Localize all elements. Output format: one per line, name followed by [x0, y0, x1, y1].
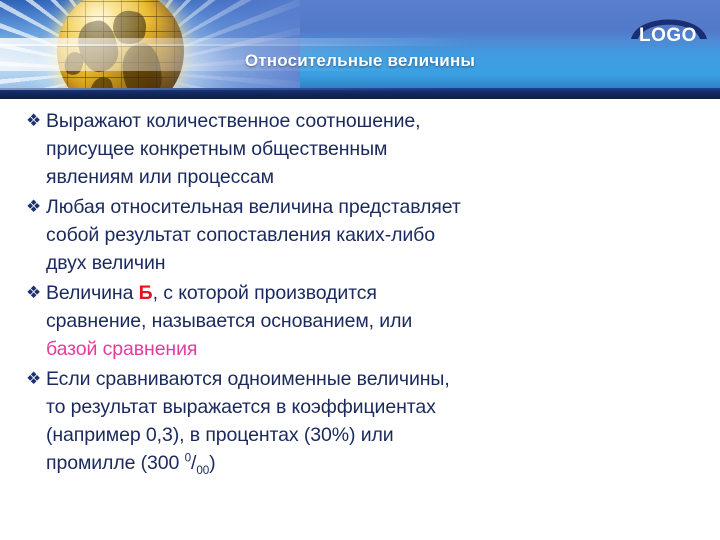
bullet-line-segment: Величина: [46, 282, 139, 304]
bullet-diamond-icon: ❖: [26, 279, 46, 307]
bullet-line: (например 0,3), в процентах (30%) или: [46, 421, 698, 449]
bullet-line: Величина Б, с которой производится: [46, 279, 698, 307]
bullet-line-segment: ): [209, 452, 215, 474]
bullet-text-4: Если сравниваются одноименные величины, …: [46, 365, 698, 477]
bullet-item-3: ❖ Величина Б, с которой производится сра…: [26, 279, 698, 363]
bullet-line: собой результат сопоставления каких-либо: [46, 221, 698, 249]
bullet-line: промилле (300 0/00): [46, 449, 698, 477]
bullet-diamond-icon: ❖: [26, 107, 46, 135]
permille-symbol: 0/00: [185, 452, 210, 474]
bullet-text-1: Выражают количественное соотношение, при…: [46, 107, 698, 191]
slide-header: Относительные величины LOGO: [0, 0, 720, 99]
bullet-line: Если сравниваются одноименные величины,: [46, 365, 698, 393]
bullet-text-3: Величина Б, с которой производится сравн…: [46, 279, 698, 363]
page-title: Относительные величины: [0, 52, 720, 69]
bullet-line: сравнение, называется основанием, или: [46, 307, 698, 335]
bullet-diamond-icon: ❖: [26, 365, 46, 393]
bullet-text-2: Любая относительная величина представляе…: [46, 193, 698, 277]
bullet-item-1: ❖ Выражают количественное соотношение, п…: [26, 107, 698, 191]
bullet-line-segment: промилле (300: [46, 452, 185, 474]
highlighted-letter: Б: [139, 282, 153, 304]
bullet-diamond-icon: ❖: [26, 193, 46, 221]
bullet-line: присущее конкретным общественным: [46, 135, 698, 163]
bullet-item-4: ❖ Если сравниваются одноименные величины…: [26, 365, 698, 477]
bullet-line: двух величин: [46, 249, 698, 277]
permille-subscript: 00: [196, 464, 209, 477]
bullet-line: Любая относительная величина представляе…: [46, 193, 698, 221]
header-divider: [0, 88, 720, 99]
bullet-line: явлениям или процессам: [46, 163, 698, 191]
logo-text: LOGO: [624, 26, 712, 45]
bullet-line: Выражают количественное соотношение,: [46, 107, 698, 135]
slide: Относительные величины LOGO ❖ Выражают к…: [0, 0, 720, 540]
logo[interactable]: LOGO: [624, 4, 712, 50]
bullet-line-segment: , с которой производится: [153, 282, 377, 304]
bullet-item-2: ❖ Любая относительная величина представл…: [26, 193, 698, 277]
bullet-line-highlighted: базой сравнения: [46, 335, 698, 363]
slide-content: ❖ Выражают количественное соотношение, п…: [0, 107, 720, 479]
bullet-line: то результат выражается в коэффициентах: [46, 393, 698, 421]
